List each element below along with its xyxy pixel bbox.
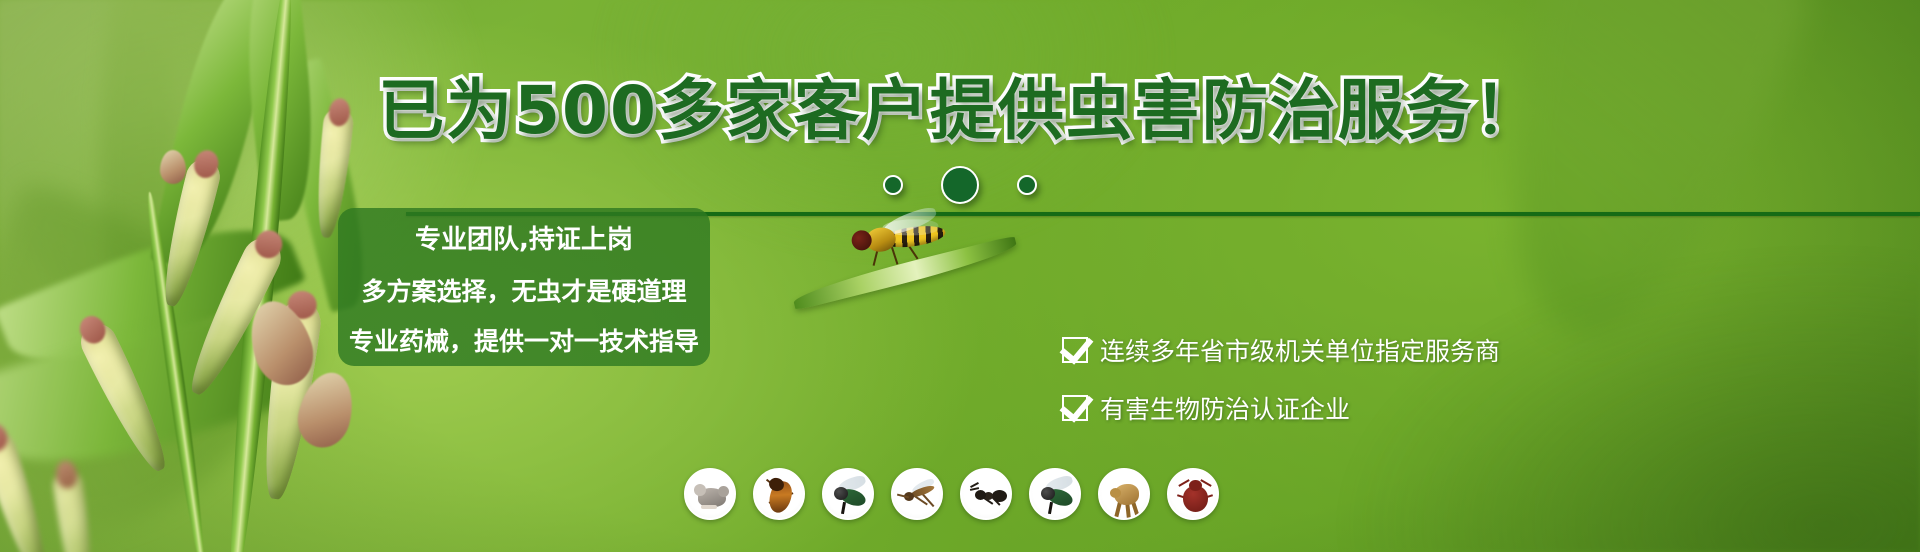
pest-control-hero-banner: 已为500多家客户提供虫害防治服务！ 专业团队,持证上岗 多方案选择，无虫才是硬… bbox=[0, 0, 1920, 552]
hoverfly-on-leaf-image bbox=[790, 225, 1090, 335]
slogan-line-3: 专业药械，提供一对一技术指导 bbox=[338, 322, 710, 358]
flea-icon[interactable] bbox=[1098, 468, 1150, 520]
dot-small-right bbox=[1017, 175, 1037, 195]
pest-icon-strip bbox=[684, 468, 1219, 520]
banner-headline-text: 已为500多家客户提供虫害防治服务！ bbox=[378, 72, 1542, 149]
checkbox-checked-icon bbox=[1062, 337, 1088, 363]
mouse-icon[interactable] bbox=[684, 468, 736, 520]
fly-icon-2[interactable] bbox=[1029, 468, 1081, 520]
slogan-panel: 专业团队,持证上岗 多方案选择，无虫才是硬道理 专业药械，提供一对一技术指导 bbox=[338, 208, 710, 366]
banner-headline: 已为500多家客户提供虫害防治服务！ bbox=[0, 78, 1920, 144]
dot-large-center bbox=[941, 166, 979, 204]
decorative-dot-row bbox=[0, 162, 1920, 208]
slogan-line-1: 专业团队,持证上岗 bbox=[338, 219, 710, 256]
mosquito-icon[interactable] bbox=[891, 468, 943, 520]
ant-icon[interactable] bbox=[960, 468, 1012, 520]
checklist-item: 有害生物防治认证企业 bbox=[1062, 390, 1500, 426]
dot-small-left bbox=[883, 175, 903, 195]
bedbug-icon[interactable] bbox=[1167, 468, 1219, 520]
checklist-item-label: 有害生物防治认证企业 bbox=[1100, 390, 1350, 426]
checklist-item-label: 连续多年省市级机关单位指定服务商 bbox=[1100, 332, 1500, 368]
checkbox-checked-icon bbox=[1062, 395, 1088, 421]
fly-icon[interactable] bbox=[822, 468, 874, 520]
slogan-line-2: 多方案选择，无虫才是硬道理 bbox=[338, 272, 710, 308]
credentials-checklist: 连续多年省市级机关单位指定服务商 有害生物防治认证企业 bbox=[1062, 332, 1500, 426]
cockroach-icon[interactable] bbox=[753, 468, 805, 520]
checklist-item: 连续多年省市级机关单位指定服务商 bbox=[1062, 332, 1500, 368]
